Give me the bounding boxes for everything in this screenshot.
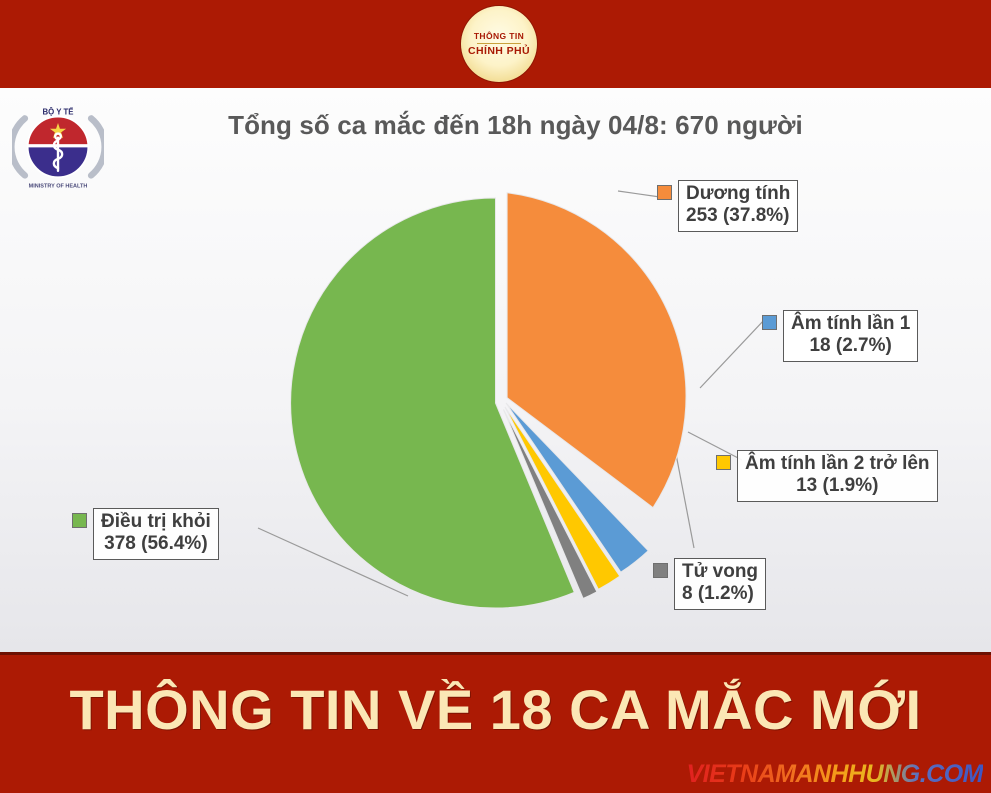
leader-line-tu-vong — [676, 454, 694, 548]
callout-value-tu-vong: 8 (1.2%) — [682, 583, 758, 605]
callout-box-am-tinh-lan-2: Âm tính lần 2 trở lên 13 (1.9%) — [737, 450, 938, 502]
watermark: VIETNAMANHHUNG.COM — [686, 760, 983, 789]
callout-box-tu-vong: Tử vong 8 (1.2%) — [674, 558, 766, 610]
leader-line-duong-tinh — [618, 191, 660, 197]
callout-label-am-tinh-lan-2: Âm tính lần 2 trở lên — [745, 453, 930, 475]
gov-seal-line1: THÔNG TIN — [474, 31, 524, 42]
callout-am-tinh-lan-1: Âm tính lần 1 18 (2.7%) — [762, 310, 918, 362]
gov-seal-icon: THÔNG TIN CHÍNH PHỦ — [461, 6, 537, 82]
callout-value-duong-tinh: 253 (37.8%) — [686, 205, 790, 227]
callout-value-am-tinh-lan-1: 18 (2.7%) — [791, 335, 910, 357]
swatch-dieu-tri-khoi-icon — [72, 513, 87, 528]
callout-duong-tinh: Dương tính 253 (37.8%) — [657, 180, 798, 232]
callout-label-tu-vong: Tử vong — [682, 561, 758, 583]
footer-headline: THÔNG TIN VỀ 18 CA MẮC MỚI — [0, 677, 991, 742]
callout-dieu-tri-khoi: Điều trị khỏi 378 (56.4%) — [72, 508, 219, 560]
callout-tu-vong: Tử vong 8 (1.2%) — [653, 558, 766, 610]
callout-am-tinh-lan-2: Âm tính lần 2 trở lên 13 (1.9%) — [716, 450, 938, 502]
callout-value-am-tinh-lan-2: 13 (1.9%) — [745, 475, 930, 497]
callout-label-am-tinh-lan-1: Âm tính lần 1 — [791, 313, 910, 335]
callout-label-duong-tinh: Dương tính — [686, 183, 790, 205]
gov-seal-divider — [477, 43, 521, 44]
leader-line-am-tinh-lan-1 — [700, 318, 766, 388]
callout-box-duong-tinh: Dương tính 253 (37.8%) — [678, 180, 798, 232]
callout-label-dieu-tri-khoi: Điều trị khỏi — [101, 511, 211, 533]
gov-seal-line2: CHÍNH PHỦ — [468, 45, 530, 58]
pie-slices — [291, 193, 686, 608]
callout-box-am-tinh-lan-1: Âm tính lần 1 18 (2.7%) — [783, 310, 918, 362]
header-band: THÔNG TIN CHÍNH PHỦ — [0, 0, 991, 88]
swatch-tu-vong-icon — [653, 563, 668, 578]
chart-panel: BỘ Y TẾ MINISTRY OF HEALTH Tổng số ca mắ… — [0, 88, 991, 652]
footer-band: THÔNG TIN VỀ 18 CA MẮC MỚI VIETNAMANHHUN… — [0, 652, 991, 793]
swatch-duong-tinh-icon — [657, 185, 672, 200]
pie-chart — [0, 88, 991, 652]
callout-value-dieu-tri-khoi: 378 (56.4%) — [101, 533, 211, 555]
infographic-page: THÔNG TIN CHÍNH PHỦ BỘ Y TẾ — [0, 0, 991, 790]
swatch-am-tinh-lan-2-icon — [716, 455, 731, 470]
callout-box-dieu-tri-khoi: Điều trị khỏi 378 (56.4%) — [93, 508, 219, 560]
swatch-am-tinh-lan-1-icon — [762, 315, 777, 330]
